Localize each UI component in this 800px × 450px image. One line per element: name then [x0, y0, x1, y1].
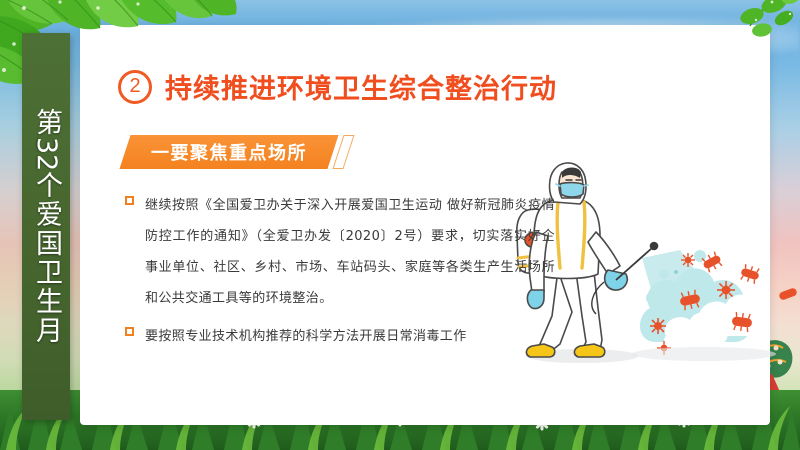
list-item: 继续按照《全国爱卫办关于深入开展爱国卫生运动 做好新冠肺炎疫情防控工作的通知》（…: [125, 190, 555, 314]
slide-root: 第32个爱国卫生月 2 持续推进环境卫生综合整治行动 一要聚焦重点场所 继续按照…: [0, 0, 800, 450]
bullet-square-icon: [125, 196, 134, 205]
side-title-suffix: 个爱国卫生月: [31, 171, 62, 345]
bullet-list: 继续按照《全国爱卫办关于深入开展爱国卫生运动 做好新冠肺炎疫情防控工作的通知》（…: [125, 190, 555, 359]
side-title-banner: 第32个爱国卫生月: [22, 33, 70, 420]
subsection-banner-body: 一要聚焦重点场所: [119, 135, 338, 169]
card-content-layer: 2 持续推进环境卫生综合整治行动 一要聚焦重点场所 继续按照《全国爱卫办关于深入…: [80, 25, 770, 425]
section-header: 2 持续推进环境卫生综合整治行动: [118, 67, 557, 106]
list-item-text: 继续按照《全国爱卫办关于深入开展爱国卫生运动 做好新冠肺炎疫情防控工作的通知》（…: [145, 190, 555, 314]
section-number-badge: 2: [118, 70, 152, 104]
list-item-text: 要按照专业技术机构推荐的科学方法开展日常消毒工作: [145, 321, 467, 352]
side-title-prefix: 第: [31, 108, 62, 137]
side-title-number: 32: [31, 137, 62, 171]
subsection-banner-label: 一要聚焦重点场所: [151, 139, 307, 165]
page-title: 持续推进环境卫生综合整治行动: [165, 67, 557, 106]
list-item: 要按照专业技术机构推荐的科学方法开展日常消毒工作: [125, 321, 555, 352]
side-title-text: 第32个爱国卫生月: [28, 108, 64, 345]
subsection-banner: 一要聚焦重点场所: [125, 135, 349, 169]
bullet-square-icon: [125, 327, 134, 336]
